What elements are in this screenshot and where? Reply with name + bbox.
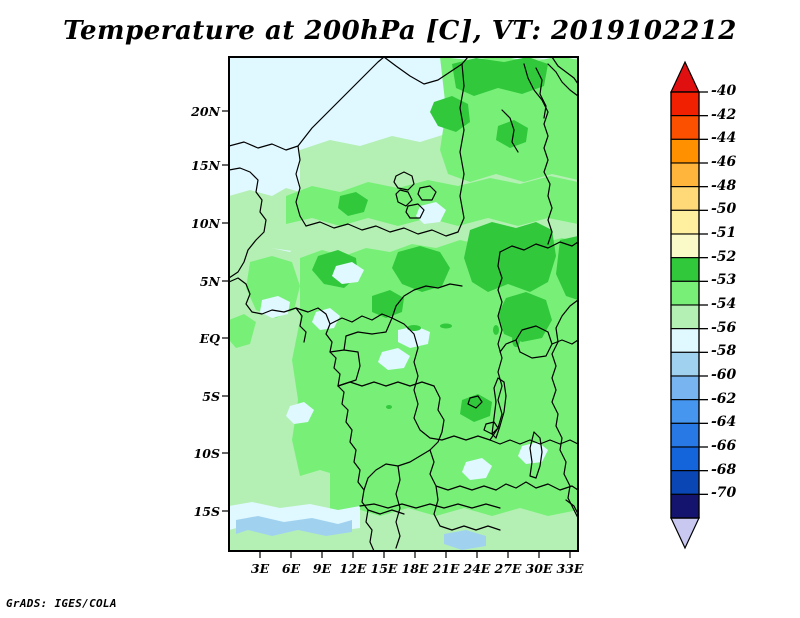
y-axis-tick-label: 20N [178, 104, 220, 119]
y-axis-tick-label: 5N [178, 274, 220, 289]
colorbar-band [671, 376, 699, 400]
colorbar-tick-label: -66 [711, 438, 736, 454]
map-panel [222, 56, 578, 558]
colorbar-tick-label: -62 [711, 391, 736, 407]
colorbar-tick-label: -60 [711, 367, 736, 383]
colorbar-band [671, 400, 699, 424]
colorbar-band [671, 329, 699, 353]
colorbar-tick-label: -70 [711, 485, 736, 501]
colorbar-tick-label: -58 [711, 343, 736, 359]
colorbar-tick-label: -48 [711, 178, 736, 194]
colorbar-band [671, 92, 699, 116]
colorbar-band [671, 163, 699, 187]
x-axis-tick-label: 33E [548, 561, 592, 576]
y-axis-tick-label: 10N [178, 216, 220, 231]
colorbar-tick-label: -56 [711, 320, 736, 336]
colorbar-band [671, 210, 699, 234]
colorbar-tick-label: -53 [711, 272, 736, 288]
colorbar-tick-label: -44 [711, 130, 736, 146]
colorbar-tick-label: -51 [711, 225, 736, 241]
colorbar-band [671, 305, 699, 329]
colorbar-band [671, 234, 699, 258]
colorbar-band [671, 187, 699, 211]
temperature-map-figure [0, 0, 800, 618]
y-axis-tick-label: EQ [178, 331, 220, 346]
colorbar-tick-label: -64 [711, 414, 736, 430]
colorbar-tick-label: -40 [711, 83, 736, 99]
colorbar-tick-label: -46 [711, 154, 736, 170]
grads-credit: GrADS: IGES/COLA [6, 597, 117, 610]
colorbar-tick-label: -52 [711, 249, 736, 265]
colorbar-band [671, 447, 699, 471]
colorbar-band [671, 352, 699, 376]
colorbar-bands [671, 92, 699, 518]
y-axis-tick-label: 10S [178, 446, 220, 461]
colorbar-tick-label: -68 [711, 462, 736, 478]
y-axis-tick-label: 15S [178, 504, 220, 519]
colorbar-tick-label: -50 [711, 201, 736, 217]
y-axis-tick-label: 15N [178, 158, 220, 173]
colorbar-band [671, 423, 699, 447]
colorbar-band [671, 139, 699, 163]
colorbar-band [671, 494, 699, 518]
colorbar-band [671, 116, 699, 140]
colorbar-tick-label: -54 [711, 296, 736, 312]
y-axis-tick-label: 5S [178, 389, 220, 404]
colorbar-band [671, 281, 699, 305]
colorbar-band [671, 258, 699, 282]
page-title: Temperature at 200hPa [C], VT: 201910221… [0, 16, 800, 46]
colorbar-tick-label: -42 [711, 107, 736, 123]
colorbar-band [671, 471, 699, 495]
